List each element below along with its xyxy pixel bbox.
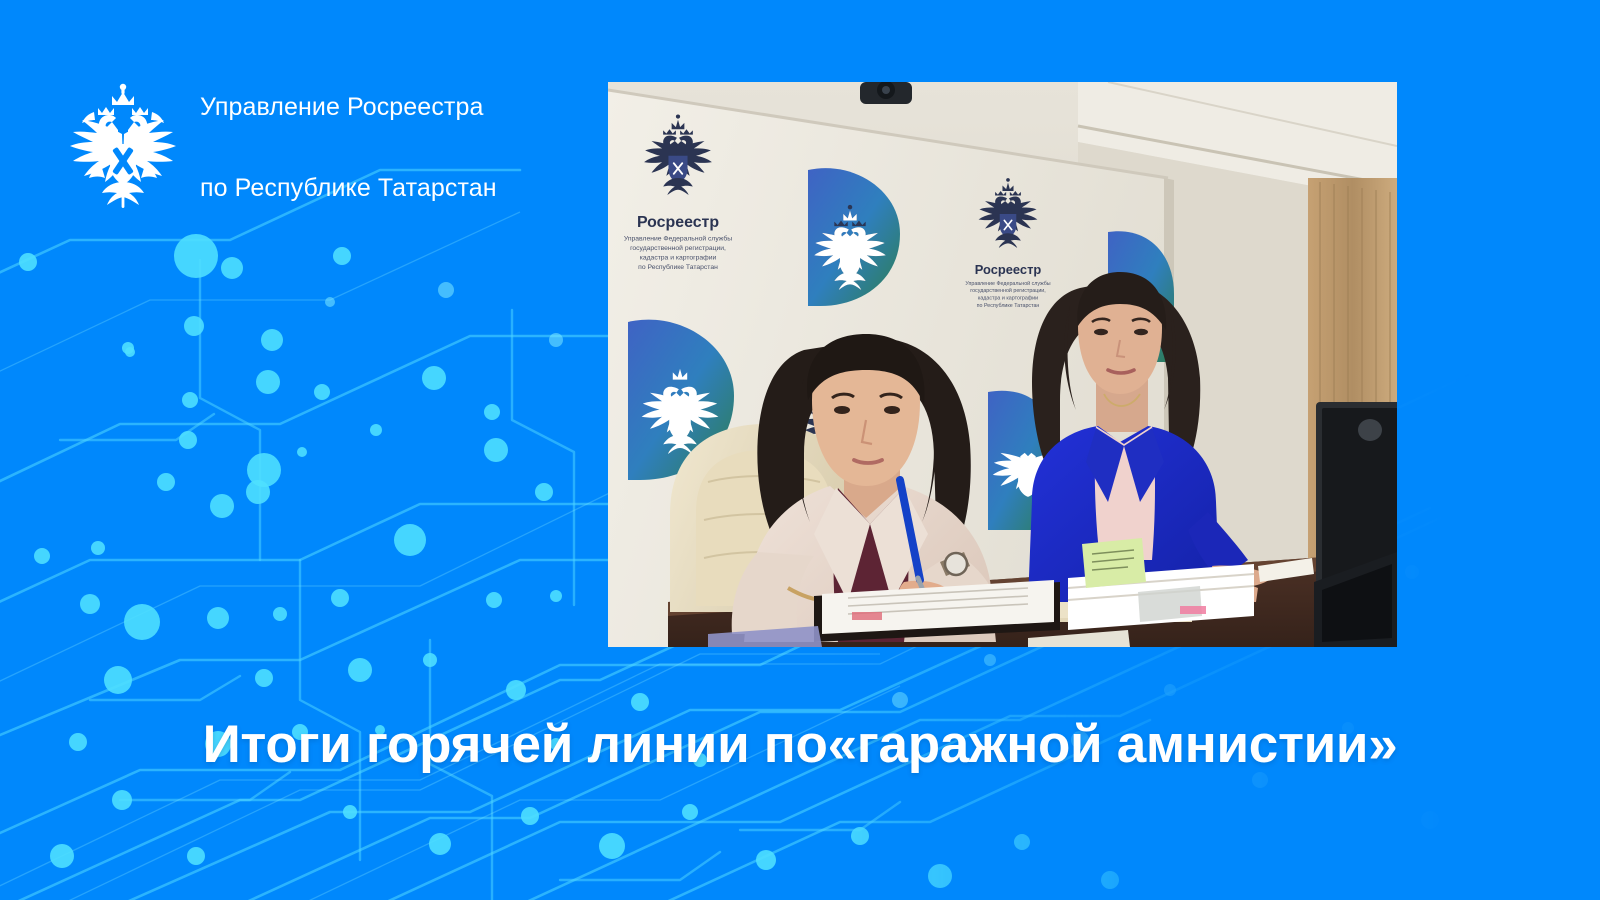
- svg-text:Росреестр: Росреестр: [637, 214, 719, 231]
- logo-text-block: Управление Росреестра по Республике Тата…: [200, 36, 497, 256]
- svg-text:Управление Федеральной службы: Управление Федеральной службы: [965, 280, 1050, 287]
- event-photo: Росреестр Управление Федеральной службы …: [608, 82, 1397, 647]
- svg-text:по Республике Татарстан: по Республике Татарстан: [638, 263, 718, 271]
- svg-text:кадастра и картографии: кадастра и картографии: [978, 296, 1038, 302]
- logo-text-line-1: Управление Росреестра: [200, 94, 497, 121]
- rosreestr-double-headed-eagle-emblem: [62, 82, 184, 210]
- svg-text:по Республике Татарстан: по Республике Татарстан: [977, 303, 1040, 309]
- svg-text:Управление Федеральной службы: Управление Федеральной службы: [624, 235, 732, 243]
- svg-text:государственной регистрации,: государственной регистрации,: [970, 287, 1045, 294]
- svg-text:государственной регистрации,: государственной регистрации,: [630, 244, 726, 252]
- svg-text:Росреестр: Росреестр: [975, 262, 1042, 277]
- rosreestr-announcement-banner: Управление Росреестра по Республике Тата…: [0, 0, 1600, 900]
- green-sticky-note: [1082, 538, 1146, 588]
- logo-text-line-2: по Республике Татарстан: [200, 175, 497, 202]
- svg-text:кадастра и картографии: кадастра и картографии: [640, 255, 717, 262]
- rosreestr-logo-lockup: Управление Росреестра по Республике Тата…: [62, 36, 497, 256]
- ceiling-camera: [860, 82, 912, 104]
- page-title: Итоги горячей линии по«гаражной амнистии…: [0, 712, 1600, 778]
